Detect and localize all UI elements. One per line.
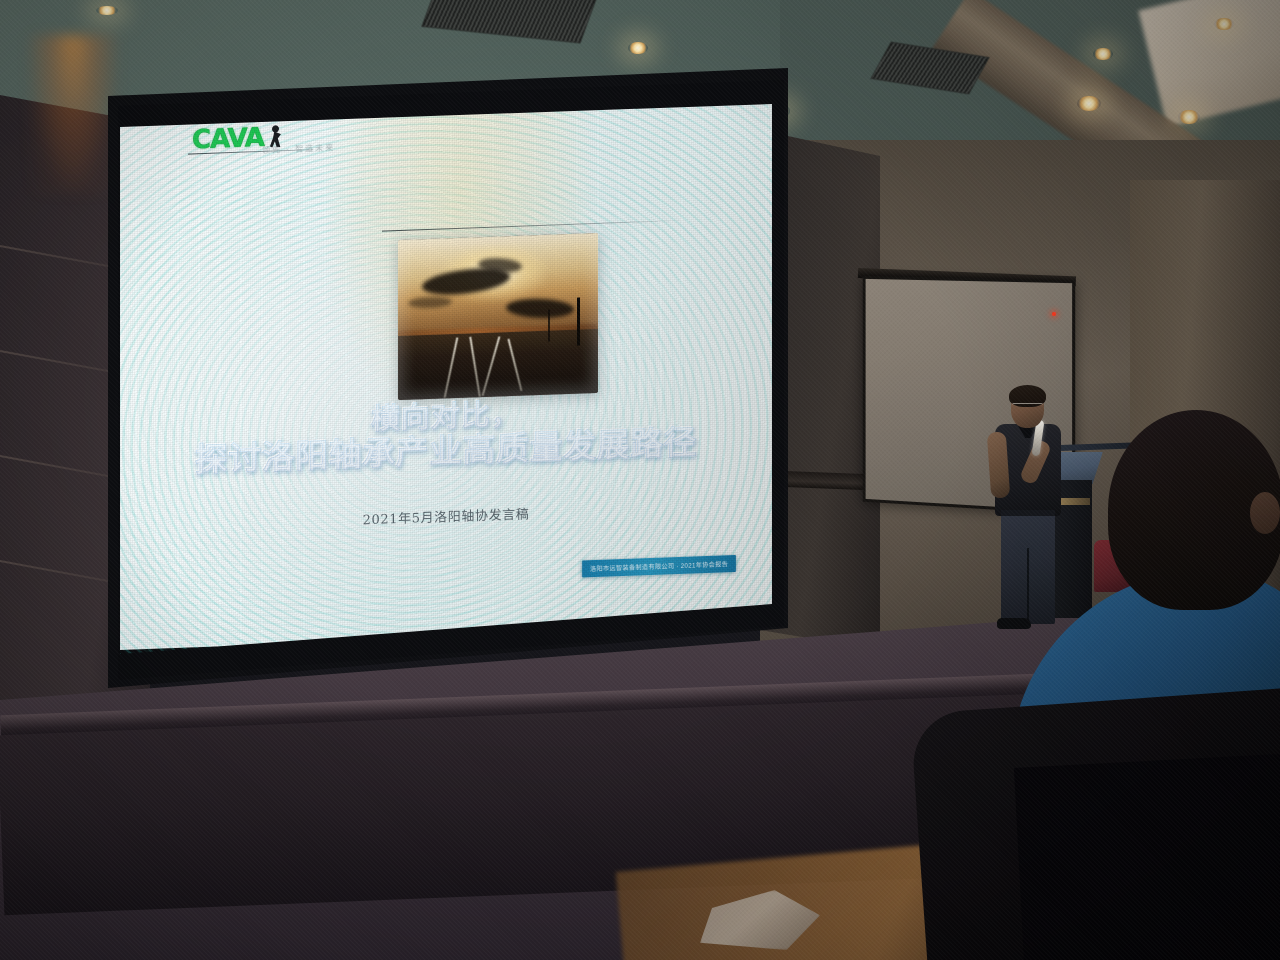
audience-member-ear: [1250, 492, 1280, 534]
recessed-downlight: [1178, 110, 1200, 124]
photo-signal-post: [548, 310, 550, 342]
led-video-wall-screen[interactable]: CAVA 领先 · 智造未来: [120, 104, 772, 654]
projector-status-led: [1052, 312, 1056, 316]
conference-room-photo: CAVA 领先 · 智造未来: [0, 0, 1280, 960]
presentation-slide: CAVA 领先 · 智造未来: [120, 104, 772, 650]
recessed-downlight: [1214, 18, 1234, 30]
eyeglasses-icon: [1012, 403, 1043, 410]
logo-tagline-text: 领先 · 智造未来: [262, 143, 335, 155]
presenter-shoe: [997, 618, 1031, 629]
railway-sunset-photo: [398, 233, 598, 400]
wall-wash-light: [28, 35, 118, 195]
recessed-downlight: [96, 6, 118, 15]
recessed-downlight: [628, 42, 648, 54]
presenter-belt: [1001, 510, 1055, 516]
presenter-leg-split: [1027, 548, 1029, 622]
presenter-at-lectern: [985, 388, 1075, 638]
recessed-downlight: [1093, 48, 1113, 60]
recessed-downlight: [1077, 96, 1101, 111]
foreground-chair-back-lower: [1014, 752, 1280, 960]
photo-signal-post: [577, 298, 580, 346]
